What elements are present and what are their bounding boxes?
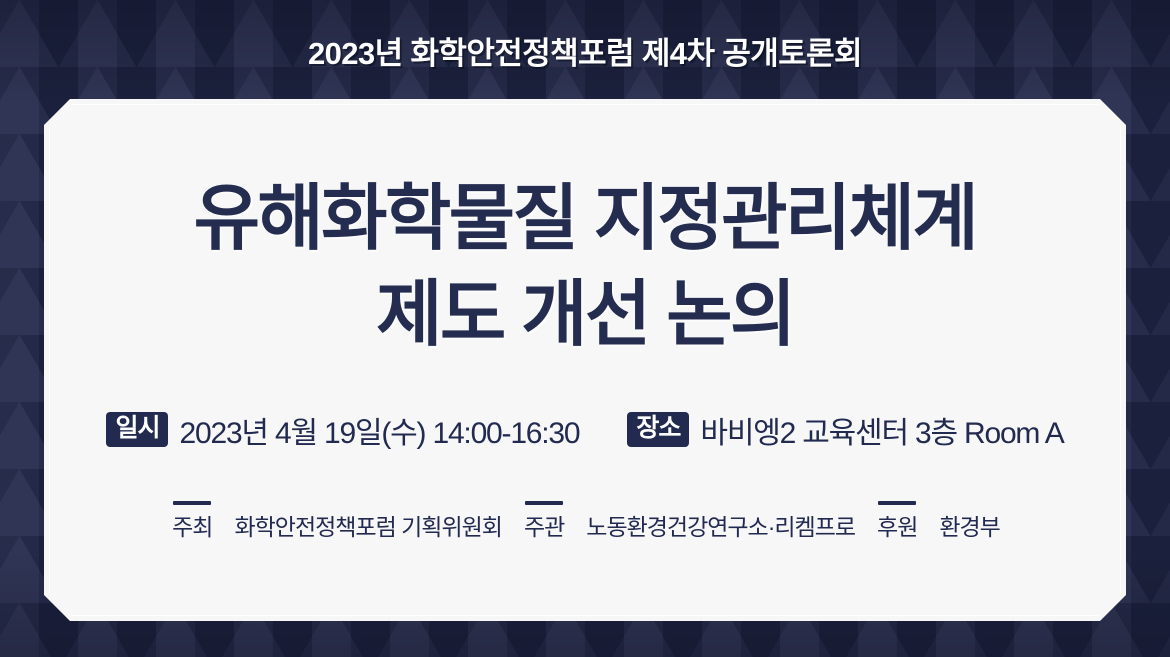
credit-sponsor-label: 후원 — [877, 516, 917, 539]
credit-organizer-label-wrap: 주관 — [524, 501, 564, 539]
credit-sponsor-value: 환경부 — [939, 516, 999, 539]
page-title-line-2: 제도 개선 논의 — [194, 268, 976, 364]
credit-sponsor-label-wrap: 후원 — [877, 501, 917, 539]
location-value: 바비엥2 교육센터 3층 Room A — [700, 408, 1063, 452]
credit-rule-icon — [525, 501, 563, 505]
credits-row: 주최 화학안전정책포럼 기획위원회 주관 노동환경건강연구소·리켐프로 후원 환… — [160, 501, 1010, 539]
event-location-item: 장소 바비엥2 교육센터 3층 Room A — [627, 408, 1063, 452]
page-title: 유해화학물질 지정관리체계 제도 개선 논의 — [194, 172, 976, 364]
date-badge: 일시 — [106, 412, 168, 447]
location-badge: 장소 — [627, 412, 689, 447]
credit-organizer: 주관 노동환경건강연구소·리켐프로 — [512, 501, 865, 539]
credit-sponsor: 후원 환경부 — [865, 501, 1010, 539]
page-title-line-1: 유해화학물질 지정관리체계 — [194, 172, 976, 268]
credit-host: 주최 화학안전정책포럼 기획위원회 — [160, 501, 512, 539]
event-poster: 2023년 화학안전정책포럼 제4차 공개토론회 유해화학물질 지정관리체계 제… — [0, 0, 1170, 657]
header-band: 2023년 화학안전정책포럼 제4차 공개토론회 — [0, 0, 1170, 100]
event-date-item: 일시 2023년 4월 19일(수) 14:00-16:30 — [106, 408, 579, 452]
credit-rule-icon — [878, 501, 916, 505]
date-value: 2023년 4월 19일(수) 14:00-16:30 — [179, 408, 579, 452]
content-card-body: 유해화학물질 지정관리체계 제도 개선 논의 일시 2023년 4월 19일(수… — [44, 99, 1126, 621]
credit-host-label-wrap: 주최 — [172, 501, 212, 539]
credit-organizer-value: 노동환경건강연구소·리켐프로 — [586, 516, 855, 539]
credit-host-label: 주최 — [172, 516, 212, 539]
credit-host-value: 화학안전정책포럼 기획위원회 — [234, 516, 501, 539]
credit-organizer-label: 주관 — [524, 516, 564, 539]
forum-eyebrow-title: 2023년 화학안전정책포럼 제4차 공개토론회 — [308, 28, 862, 73]
event-info-row: 일시 2023년 4월 19일(수) 14:00-16:30 장소 바비엥2 교… — [106, 408, 1063, 452]
credit-rule-icon — [173, 501, 211, 505]
